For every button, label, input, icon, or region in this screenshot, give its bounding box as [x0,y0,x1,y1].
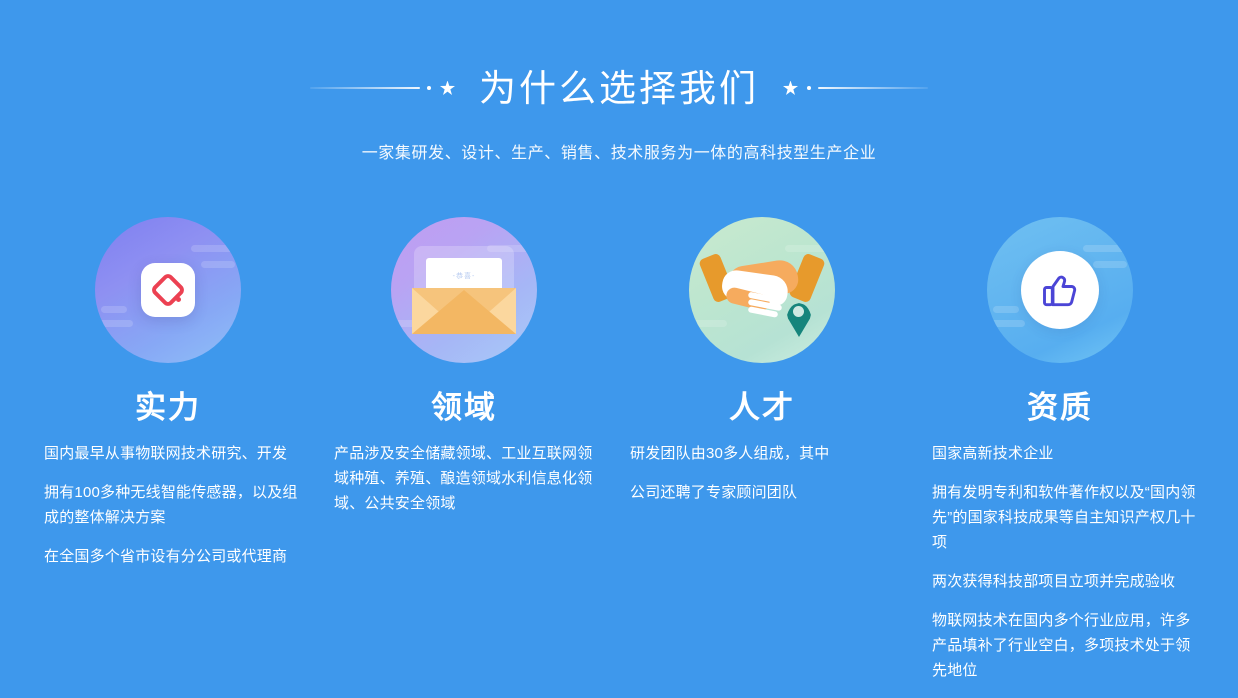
deco-star-icon [440,81,455,96]
list-item: 国家高新技术企业 [932,441,1200,466]
diamond-card-icon [83,205,253,375]
page-title: 为什么选择我们 [457,70,781,107]
letter-heading: -恭喜- [426,271,502,281]
orb-streak [201,261,235,268]
feature-column-qualification: 资质 国家高新技术企业 拥有发明专利和软件著作权以及“国内领先”的国家科技成果等… [914,205,1206,683]
orb-streak [1093,261,1127,268]
column-body: 产品涉及安全储藏领域、工业互联网领域种殖、养殖、酿造领域水利信息化领域、公共安全… [318,441,610,516]
deco-dot-icon [807,86,811,90]
list-item: 产品涉及安全储藏领域、工业互联网领域种殖、养殖、酿造领域水利信息化领域、公共安全… [334,441,604,516]
deco-line-icon [310,87,420,89]
feature-column-strength: 实力 国内最早从事物联网技术研究、开发 拥有100多种无线智能传感器，以及组成的… [22,205,314,683]
decoration-right [781,78,928,98]
column-title: 人才 [729,391,795,425]
page-subtitle: 一家集研发、设计、生产、销售、技术服务为一体的高科技型生产企业 [0,139,1238,163]
title-row: 为什么选择我们 [0,62,1238,114]
diamond-dot-icon [176,297,181,302]
envelope-letter-icon: -恭喜- [379,205,549,375]
orb-streak [993,306,1019,313]
column-body: 研发团队由30多人组成，其中 公司还聘了专家顾问团队 [616,441,908,505]
orb-streak [191,245,241,252]
deco-star-icon [783,81,798,96]
column-body: 国内最早从事物联网技术研究、开发 拥有100多种无线智能传感器，以及组成的整体解… [22,441,314,569]
why-choose-us-section: 为什么选择我们 一家集研发、设计、生产、销售、技术服务为一体的高科技型生产企业 [0,0,1238,698]
list-item: 拥有发明专利和软件著作权以及“国内领先”的国家科技成果等自主知识产权几十项 [932,480,1200,555]
envelope-fold [412,290,516,334]
list-item: 两次获得科技部项目立项并完成验收 [932,569,1200,594]
list-item: 研发团队由30多人组成，其中 [630,441,902,466]
thumbs-up-glyph [1036,266,1084,314]
orb-streak [987,320,1025,327]
column-body: 国家高新技术企业 拥有发明专利和软件著作权以及“国内领先”的国家科技成果等自主知… [914,441,1206,683]
orb-streak [95,320,133,327]
deco-dot-icon [427,86,431,90]
feature-columns: 实力 国内最早从事物联网技术研究、开发 拥有100多种无线智能传感器，以及组成的… [0,205,1238,683]
column-title: 领域 [431,391,497,425]
list-item: 物联网技术在国内多个行业应用，许多产品填补了行业空白，多项技术处于领先地位 [932,608,1200,683]
location-pin-hole [793,306,804,317]
diamond-outline-icon [150,272,187,309]
orb-streak [101,306,127,313]
handshake-graphic [704,247,820,333]
orb-streak [1083,245,1133,252]
decoration-left [310,78,457,98]
column-title: 资质 [1027,391,1093,425]
feature-column-talent: 人才 研发团队由30多人组成，其中 公司还聘了专家顾问团队 [616,205,908,683]
list-item: 公司还聘了专家顾问团队 [630,480,902,505]
list-item: 拥有100多种无线智能传感器，以及组成的整体解决方案 [44,480,308,530]
list-item: 在全国多个省市设有分公司或代理商 [44,544,308,569]
white-circle [1021,251,1099,329]
list-item: 国内最早从事物联网技术研究、开发 [44,441,308,466]
white-card [141,263,195,317]
envelope-graphic: -恭喜- [412,246,516,334]
thumbs-up-icon [975,205,1145,375]
feature-column-fields: -恭喜- 领域 产品涉及安全储藏领域、工业互联网领域种殖、养殖、酿造领域水利信息… [318,205,610,683]
deco-line-icon [818,87,928,89]
section-header: 为什么选择我们 一家集研发、设计、生产、销售、技术服务为一体的高科技型生产企业 [0,62,1238,163]
handshake-location-icon [677,205,847,375]
column-title: 实力 [135,391,201,425]
